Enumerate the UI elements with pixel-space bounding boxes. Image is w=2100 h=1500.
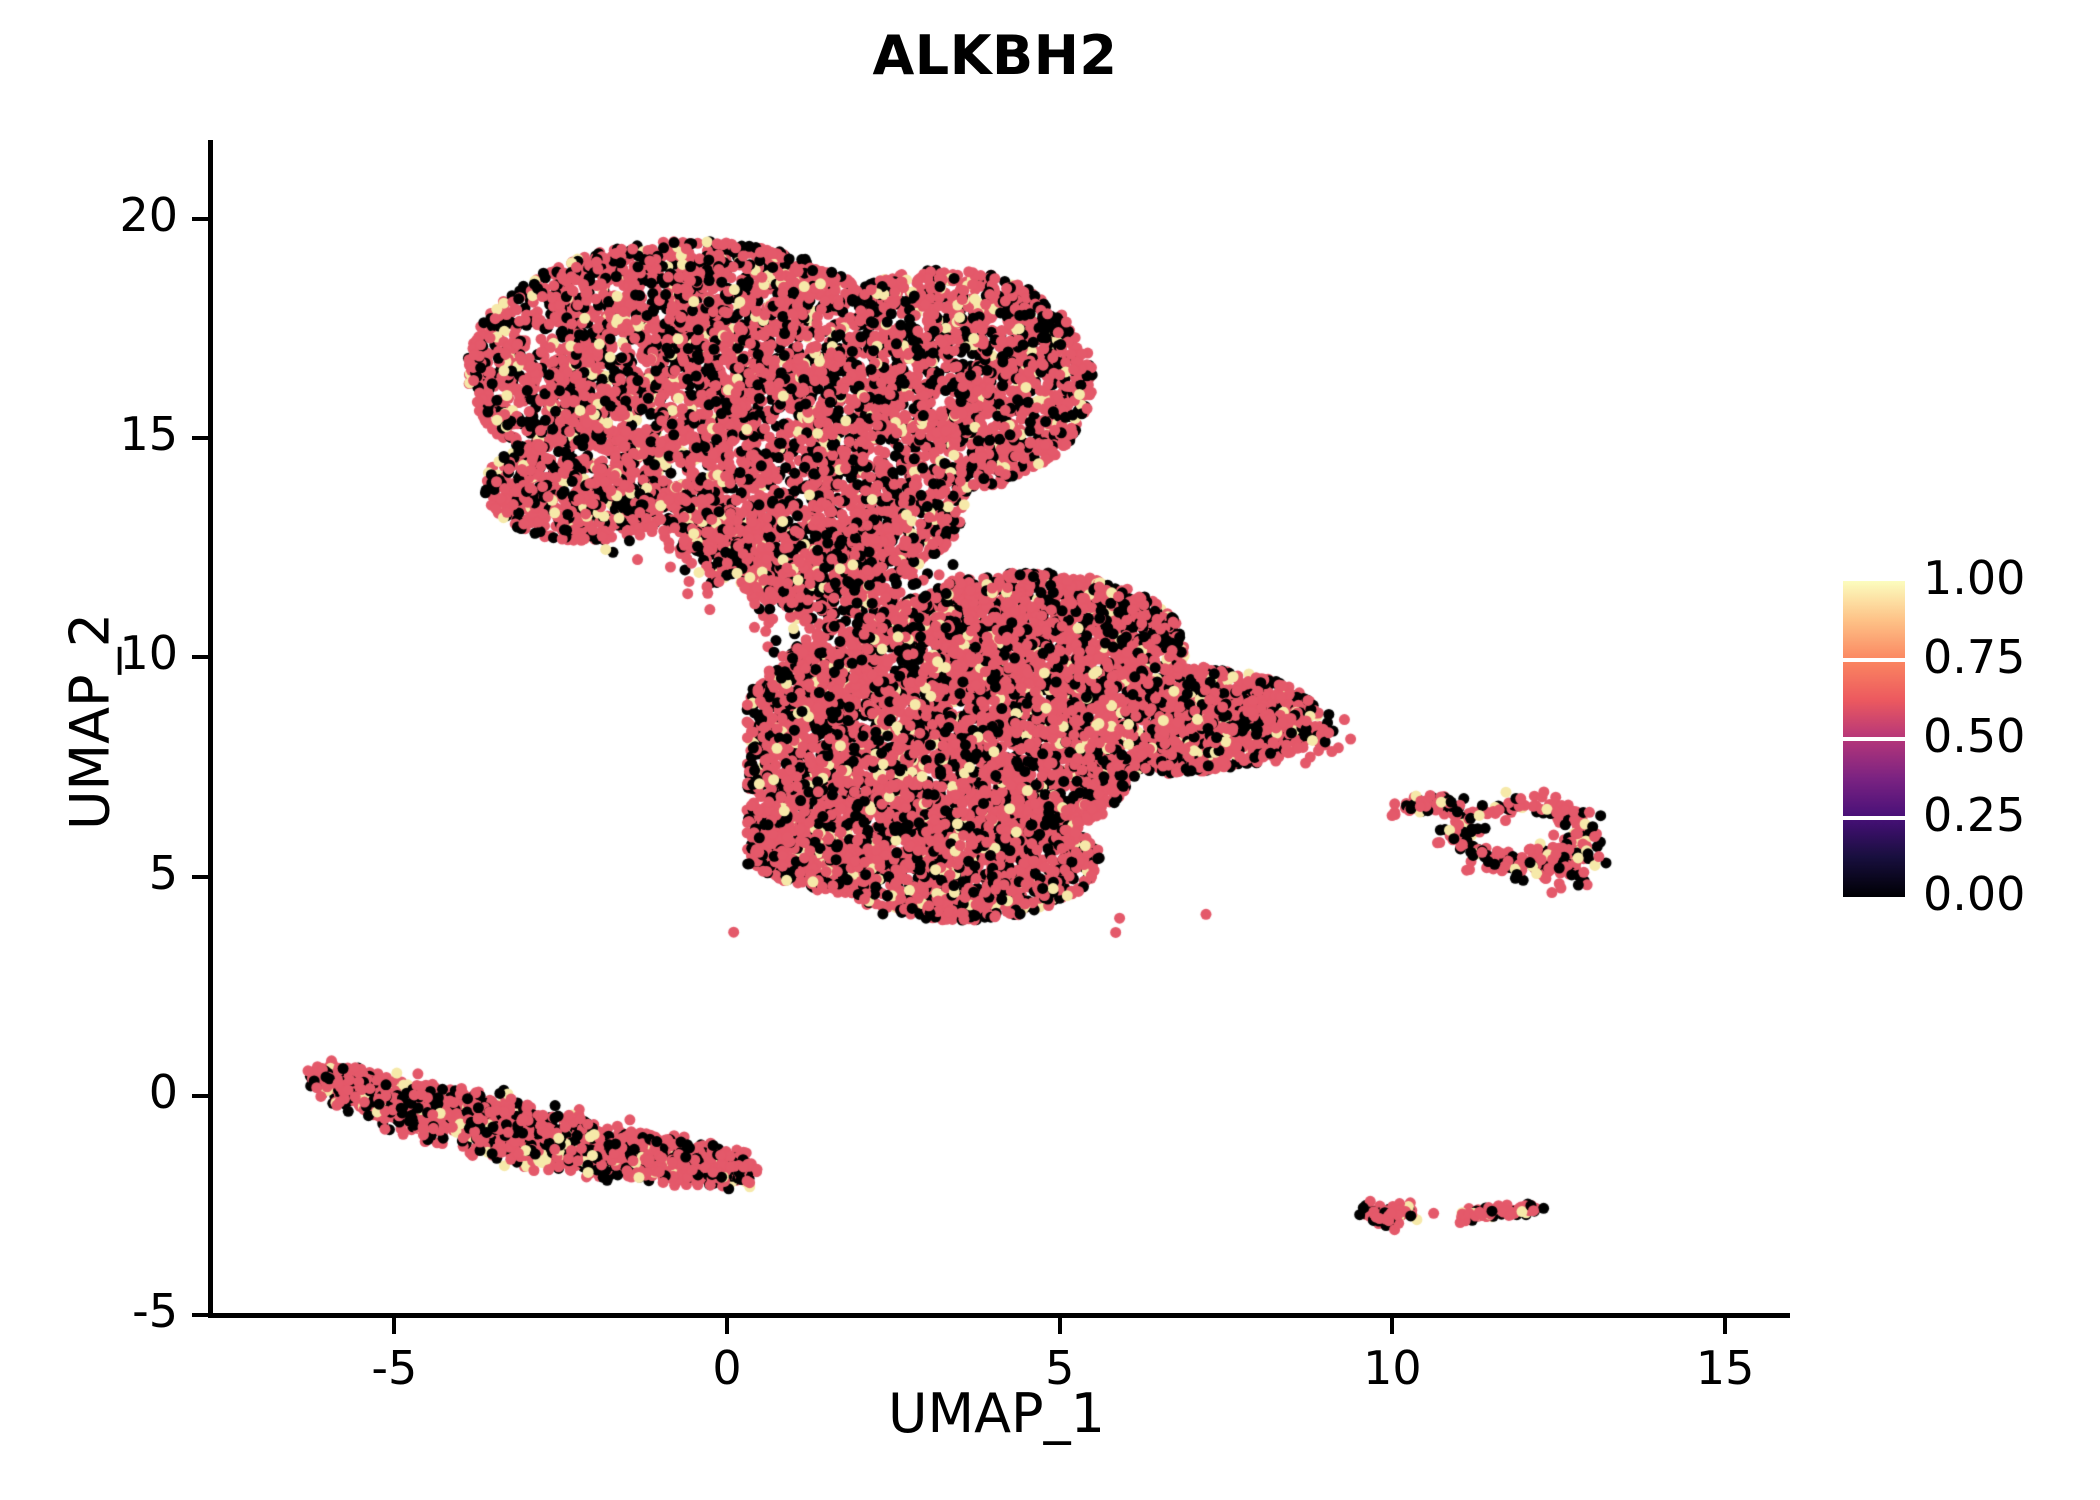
colorbar-tick-mark bbox=[1843, 658, 1905, 662]
y-tick-label: 20 bbox=[8, 188, 178, 242]
plot-axes-area bbox=[208, 140, 1785, 1315]
colorbar-tick-label: 1.00 bbox=[1923, 551, 2025, 605]
y-tick-mark bbox=[192, 875, 208, 879]
colorbar-tick-label: 0.25 bbox=[1923, 788, 2025, 842]
x-tick-mark bbox=[725, 1318, 729, 1334]
y-tick-mark bbox=[192, 655, 208, 659]
x-tick-mark bbox=[1058, 1318, 1062, 1334]
x-tick-mark bbox=[1390, 1318, 1394, 1334]
colorbar-tick-mark bbox=[1843, 816, 1905, 820]
figure-root: ALKBH2 -505101520 -5051015 UMAP_1 UMAP_2… bbox=[0, 0, 2100, 1500]
y-tick-mark bbox=[192, 1313, 208, 1317]
page-title: ALKBH2 bbox=[0, 24, 1990, 87]
colorbar: 1.000.750.500.250.00 bbox=[1843, 581, 2083, 901]
x-axis-label: UMAP_1 bbox=[208, 1382, 1785, 1445]
colorbar-tick-label: 0.75 bbox=[1923, 630, 2025, 684]
y-tick-mark bbox=[192, 436, 208, 440]
umap-scatter-canvas bbox=[208, 140, 1785, 1315]
y-tick-mark bbox=[192, 1094, 208, 1098]
colorbar-tick-mark bbox=[1843, 737, 1905, 741]
y-axis-label: UMAP_2 bbox=[59, 322, 122, 1122]
y-tick-label: -5 bbox=[8, 1284, 178, 1338]
x-tick-mark bbox=[1723, 1318, 1727, 1334]
colorbar-tick-label: 0.50 bbox=[1923, 709, 2025, 763]
y-tick-mark bbox=[192, 217, 208, 221]
x-tick-mark bbox=[392, 1318, 396, 1334]
colorbar-tick-label: 0.00 bbox=[1923, 867, 2025, 921]
